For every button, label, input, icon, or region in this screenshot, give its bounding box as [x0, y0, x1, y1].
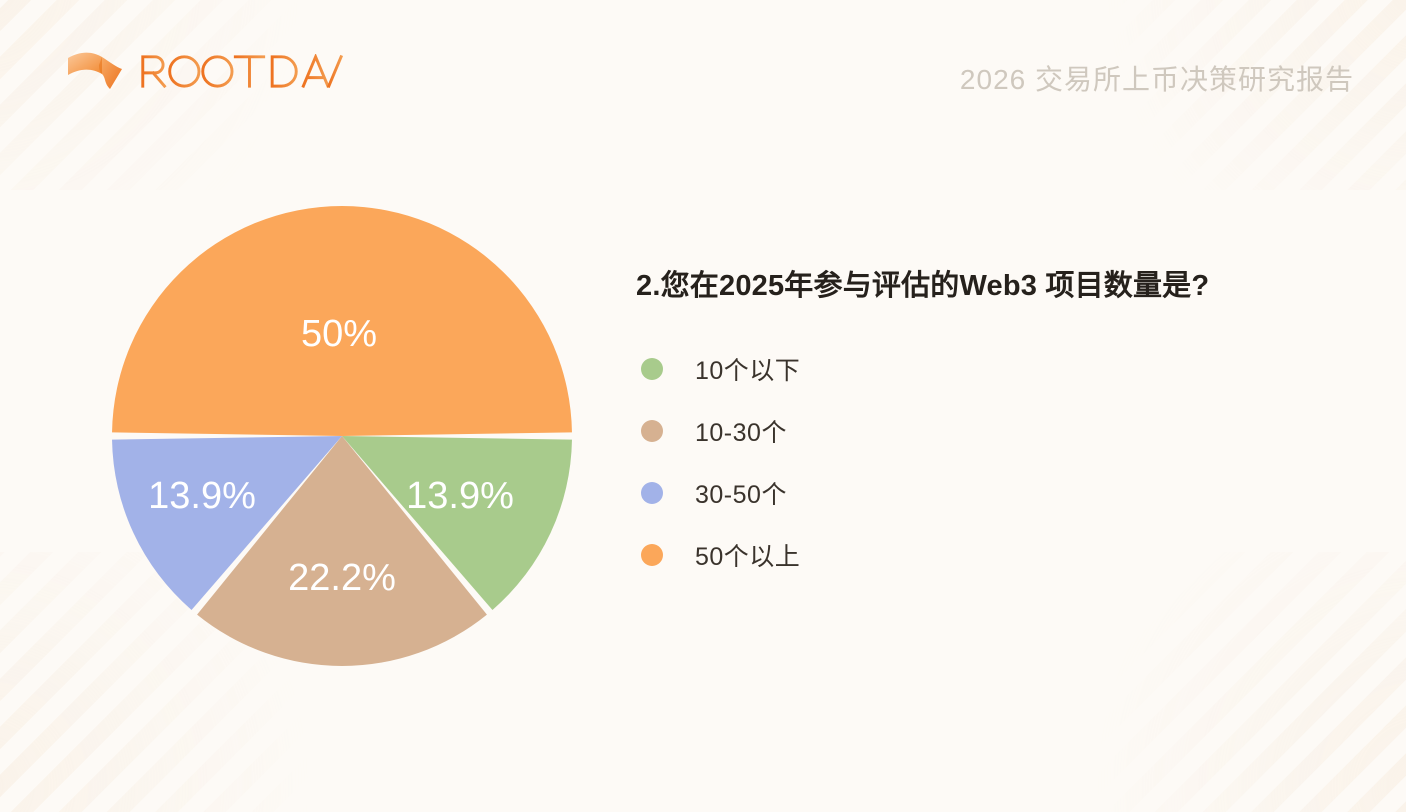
- pie-slice-label: 50%: [301, 313, 377, 355]
- legend-color-dot: [641, 544, 663, 566]
- background-texture-bottom-right: [1036, 552, 1406, 812]
- chart-legend: 10个以下10-30个30-50个50个以上: [636, 338, 1376, 586]
- pie-slice-label: 13.9%: [406, 475, 514, 517]
- pie-chart-svg: 13.9%22.2%13.9%50%: [0, 0, 620, 772]
- legend-item[interactable]: 30-50个: [636, 462, 1376, 524]
- report-title: 2026 交易所上币决策研究报告: [960, 58, 1354, 98]
- question-title: 2.您在2025年参与评估的Web3 项目数量是?: [636, 262, 1376, 304]
- legend-item[interactable]: 10-30个: [636, 400, 1376, 462]
- legend-item-label: 10个以下: [695, 351, 800, 387]
- legend-item[interactable]: 50个以上: [636, 524, 1376, 586]
- pie-chart: 13.9%22.2%13.9%50%: [0, 0, 620, 772]
- pie-slice-label: 13.9%: [148, 475, 256, 517]
- legend-item[interactable]: 10个以下: [636, 338, 1376, 400]
- legend-color-dot: [641, 420, 663, 442]
- legend-item-label: 50个以上: [695, 537, 800, 573]
- legend-color-dot: [641, 482, 663, 504]
- chart-info-panel: 2.您在2025年参与评估的Web3 项目数量是? 10个以下10-30个30-…: [636, 262, 1376, 586]
- legend-item-label: 30-50个: [695, 475, 787, 511]
- pie-slice-label: 22.2%: [288, 557, 396, 599]
- legend-color-dot: [641, 358, 663, 380]
- legend-item-label: 10-30个: [695, 413, 787, 449]
